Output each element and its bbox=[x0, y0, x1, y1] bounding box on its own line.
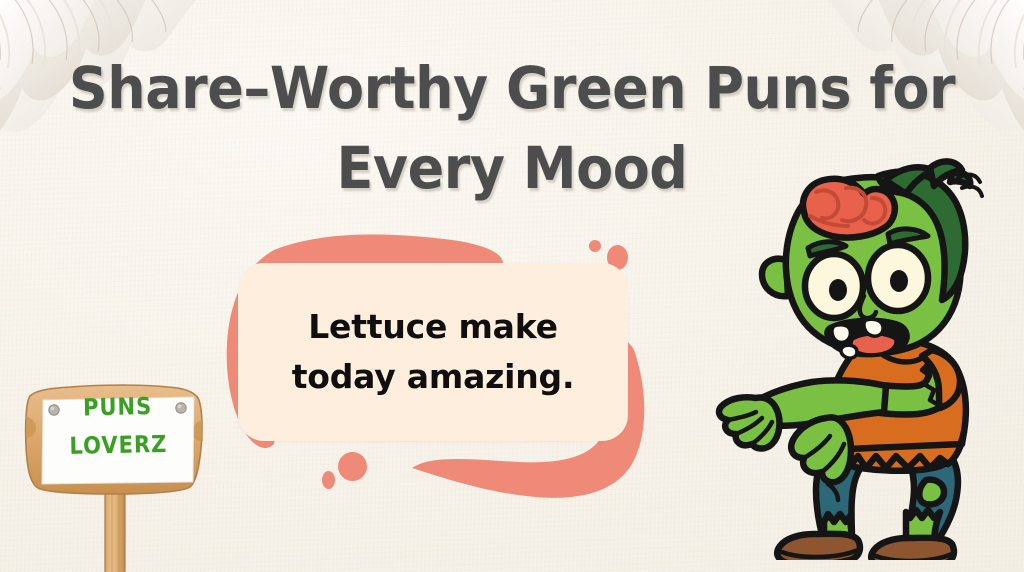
pun-line-2: today amazing. bbox=[292, 357, 575, 396]
pun-text: Lettuce make today amazing. bbox=[274, 302, 593, 402]
title-line-2: Every Mood bbox=[36, 128, 988, 208]
title-line-1: Share–Worthy Green Puns for bbox=[36, 48, 988, 128]
pun-card-group: Lettuce make today amazing. bbox=[196, 222, 676, 522]
zombie-character-illustration bbox=[700, 150, 1024, 560]
brand-signpost-logo[interactable]: PUNS LOVERZ bbox=[18, 372, 218, 572]
pun-text-card: Lettuce make today amazing. bbox=[238, 263, 628, 441]
signpost-icon bbox=[18, 372, 218, 572]
pun-line-1: Lettuce make bbox=[308, 307, 558, 346]
poster-canvas: Share–Worthy Green Puns for Every Mood L… bbox=[0, 0, 1024, 572]
page-title: Share–Worthy Green Puns for Every Mood bbox=[0, 48, 1024, 208]
